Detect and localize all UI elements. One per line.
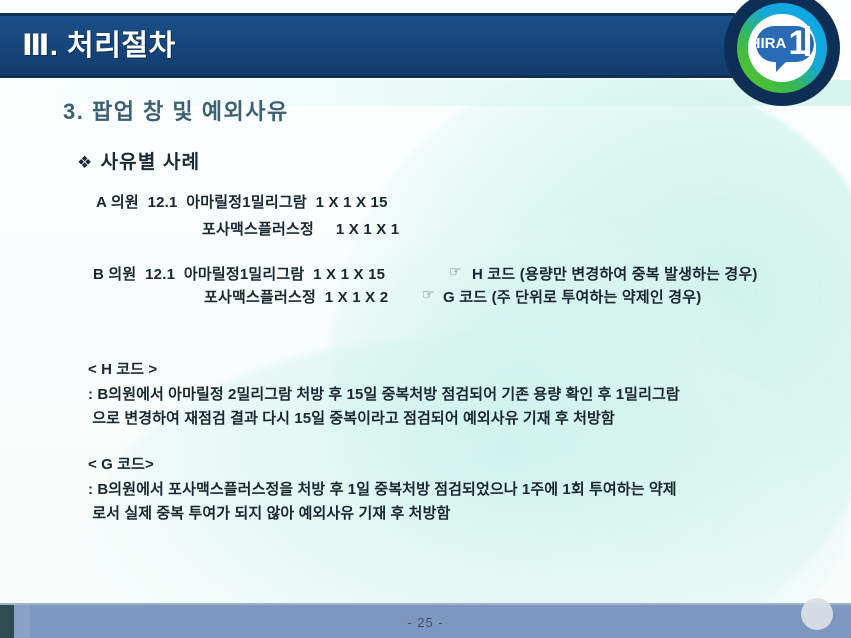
note-g-heading: < G 코드> bbox=[88, 453, 154, 474]
case-b-pointing-hand-icon-1: ☞ bbox=[449, 263, 462, 280]
case-b-code-2: G 코드 (주 단위로 투여하는 약제인 경우) bbox=[443, 286, 701, 307]
footer-corner-dot bbox=[801, 598, 833, 630]
case-b-pointing-hand-icon-2: ☞ bbox=[422, 286, 435, 303]
subsection-heading-label: 사유별 사례 bbox=[100, 152, 200, 173]
hira-wordmark: HIRA bbox=[750, 35, 787, 52]
page-title: Ⅲ. 처리절차 bbox=[22, 22, 176, 64]
case-b-code-1: H 코드 (용량만 변경하여 중복 발생하는 경우) bbox=[472, 263, 758, 284]
case-a-line-1: A 의원 12.1 아마릴정1밀리그람 1 X 1 X 15 bbox=[96, 191, 388, 212]
hira-logo-icon: HIRA 1 bbox=[722, 0, 842, 108]
subsection-heading: ❖사유별 사례 bbox=[77, 147, 200, 174]
note-g-line-2: 로서 실제 중복 투여가 되지 않아 예외사유 기재 후 처방함 bbox=[88, 502, 450, 523]
hira-numeral: 1 bbox=[789, 24, 808, 62]
hira-logo: HIRA 1 bbox=[722, 0, 842, 108]
note-g-line-1: : B의원에서 포사맥스플러스정을 처방 후 1일 중복처방 점검되었으나 1주… bbox=[88, 478, 677, 499]
case-b-line-2-left: 포사맥스플러스정 1 X 1 X 2 bbox=[204, 286, 388, 307]
section-title: 3. 팝업 창 및 예외사유 bbox=[63, 94, 289, 126]
page-number: - 25 - bbox=[0, 615, 851, 630]
note-h-heading: < H 코드 > bbox=[88, 358, 157, 379]
case-a-line-2: 포사맥스플러스정 1 X 1 X 1 bbox=[202, 218, 399, 239]
note-h-line-2: 으로 변경하여 재점검 결과 다시 15일 중복이라고 점검되어 예외사유 기재… bbox=[88, 407, 615, 428]
slide-canvas: Ⅲ. 처리절차 HIRA 1 3. 팝업 창 및 예외사유 ❖사유별 사례 bbox=[0, 0, 851, 638]
diamond-bullet-icon: ❖ bbox=[77, 153, 93, 172]
note-h-line-1: : B의원에서 아마릴정 2밀리그람 처방 후 15일 중복처방 점검되어 기존… bbox=[88, 383, 680, 404]
case-b-line-1-left: B 의원 12.1 아마릴정1밀리그람 1 X 1 X 15 bbox=[93, 263, 385, 284]
